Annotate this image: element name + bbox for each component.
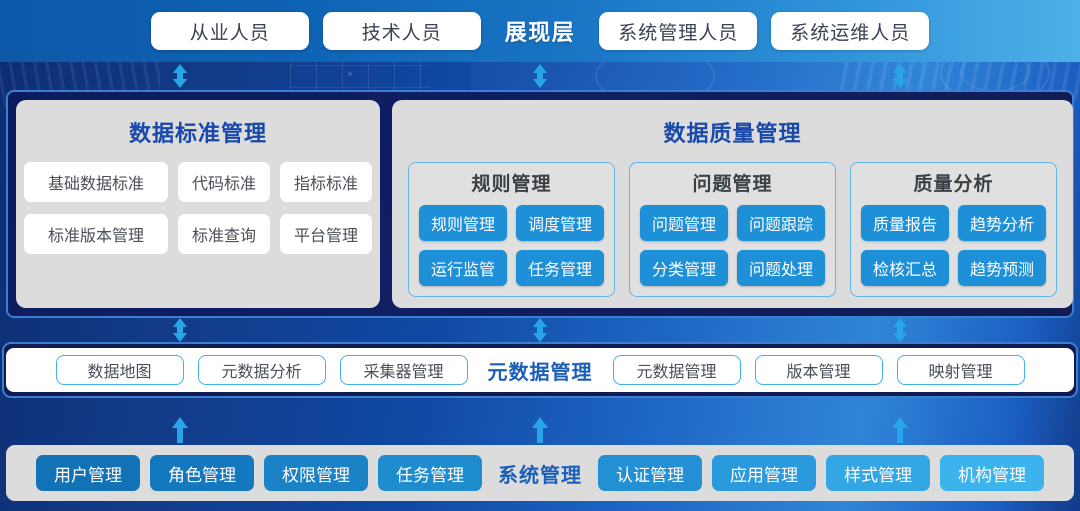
meta-item-data-map[interactable]: 数据地图 xyxy=(56,355,184,385)
sys-item-task-management[interactable]: 任务管理 xyxy=(378,455,482,491)
rule-item-task-management[interactable]: 任务管理 xyxy=(516,250,604,286)
rule-item-schedule-management[interactable]: 调度管理 xyxy=(516,205,604,241)
system-management-row: 用户管理 角色管理 权限管理 任务管理 系统管理 认证管理 应用管理 样式管理 … xyxy=(6,445,1074,501)
quality-subgroup-wrapper: 规则管理 规则管理 调度管理 运行监管 任务管理 问题管理 问题管理 问题跟踪 … xyxy=(404,162,1061,299)
double-arrow-icon xyxy=(173,318,187,342)
quality-analysis-items: 质量报告 趋势分析 检核汇总 趋势预测 xyxy=(861,205,1046,286)
issue-item-category-management[interactable]: 分类管理 xyxy=(640,250,728,286)
meta-item-metadata-management[interactable]: 元数据管理 xyxy=(613,355,741,385)
analysis-item-quality-report[interactable]: 质量报告 xyxy=(861,205,949,241)
std-item-code-standard[interactable]: 代码标准 xyxy=(178,162,270,202)
sys-item-permission-management[interactable]: 权限管理 xyxy=(264,455,368,491)
data-standard-management-title: 数据标准管理 xyxy=(28,116,368,148)
meta-item-version-management[interactable]: 版本管理 xyxy=(755,355,883,385)
sys-item-user-management[interactable]: 用户管理 xyxy=(36,455,140,491)
issue-management-title: 问题管理 xyxy=(692,169,772,196)
system-management-title: 系统管理 xyxy=(492,459,588,488)
data-standard-row-1: 基础数据标准 代码标准 指标标准 xyxy=(36,162,360,202)
std-item-indicator-standard[interactable]: 指标标准 xyxy=(280,162,372,202)
std-item-version-management[interactable]: 标准版本管理 xyxy=(24,214,168,254)
sys-item-auth-management[interactable]: 认证管理 xyxy=(598,455,702,491)
double-arrow-icon xyxy=(893,64,907,88)
role-chip-technician[interactable]: 技术人员 xyxy=(323,12,481,50)
data-quality-management-title: 数据质量管理 xyxy=(404,116,1061,148)
std-item-basic-data-standard[interactable]: 基础数据标准 xyxy=(24,162,168,202)
metadata-management-row: 数据地图 元数据分析 采集器管理 元数据管理 元数据管理 版本管理 映射管理 xyxy=(6,348,1074,392)
analysis-item-trend-analysis[interactable]: 趋势分析 xyxy=(958,205,1046,241)
presentation-layer-title: 展现层 xyxy=(495,15,586,47)
quality-analysis-title: 质量分析 xyxy=(913,169,993,196)
double-arrow-icon xyxy=(533,318,547,342)
sys-item-role-management[interactable]: 角色管理 xyxy=(150,455,254,491)
std-item-platform-management[interactable]: 平台管理 xyxy=(280,214,372,254)
analysis-item-audit-summary[interactable]: 检核汇总 xyxy=(861,250,949,286)
sys-item-org-management[interactable]: 机构管理 xyxy=(940,455,1044,491)
issue-management-items: 问题管理 问题跟踪 分类管理 问题处理 xyxy=(640,205,825,286)
architecture-diagram: 从业人员 技术人员 展现层 系统管理人员 系统运维人员 数据标准管理 基础数据标… xyxy=(0,0,1080,511)
issue-item-issue-management[interactable]: 问题管理 xyxy=(640,205,728,241)
data-standard-management-card: 数据标准管理 基础数据标准 代码标准 指标标准 标准版本管理 标准查询 平台管理 xyxy=(16,100,380,308)
metadata-management-title: 元数据管理 xyxy=(482,356,599,385)
connector-row-system-to-metadata xyxy=(0,416,1080,444)
issue-item-issue-tracking[interactable]: 问题跟踪 xyxy=(737,205,825,241)
data-standard-row-2: 标准版本管理 标准查询 平台管理 xyxy=(36,214,360,254)
role-chip-system-ops[interactable]: 系统运维人员 xyxy=(771,12,929,50)
data-quality-management-card: 数据质量管理 规则管理 规则管理 调度管理 运行监管 任务管理 问题管理 问题管… xyxy=(392,100,1073,308)
analysis-item-trend-forecast[interactable]: 趋势预测 xyxy=(958,250,1046,286)
core-layer-panel: 数据标准管理 基础数据标准 代码标准 指标标准 标准版本管理 标准查询 平台管理… xyxy=(6,90,1074,318)
role-chip-system-admin[interactable]: 系统管理人员 xyxy=(599,12,757,50)
issue-item-issue-handling[interactable]: 问题处理 xyxy=(737,250,825,286)
rule-management-group: 规则管理 规则管理 调度管理 运行监管 任务管理 xyxy=(408,162,615,297)
up-arrow-icon xyxy=(532,417,548,443)
role-chip-practitioner[interactable]: 从业人员 xyxy=(151,12,309,50)
up-arrow-icon xyxy=(172,417,188,443)
issue-management-group: 问题管理 问题管理 问题跟踪 分类管理 问题处理 xyxy=(629,162,836,297)
connector-row-core-to-metadata xyxy=(0,316,1080,344)
rule-management-items: 规则管理 调度管理 运行监管 任务管理 xyxy=(419,205,604,286)
meta-item-mapping-management[interactable]: 映射管理 xyxy=(897,355,1025,385)
rule-item-rule-management[interactable]: 规则管理 xyxy=(419,205,507,241)
double-arrow-icon xyxy=(173,64,187,88)
double-arrow-icon xyxy=(893,318,907,342)
sys-item-style-management[interactable]: 样式管理 xyxy=(826,455,930,491)
sys-item-application-management[interactable]: 应用管理 xyxy=(712,455,816,491)
meta-item-collector-management[interactable]: 采集器管理 xyxy=(340,355,468,385)
presentation-layer-bar: 从业人员 技术人员 展现层 系统管理人员 系统运维人员 xyxy=(0,0,1080,62)
data-standard-item-grid: 基础数据标准 代码标准 指标标准 标准版本管理 标准查询 平台管理 xyxy=(28,162,368,254)
up-arrow-icon xyxy=(892,417,908,443)
meta-item-metadata-analysis[interactable]: 元数据分析 xyxy=(198,355,326,385)
double-arrow-icon xyxy=(533,64,547,88)
std-item-standard-query[interactable]: 标准查询 xyxy=(178,214,270,254)
rule-item-run-monitoring[interactable]: 运行监管 xyxy=(419,250,507,286)
quality-analysis-group: 质量分析 质量报告 趋势分析 检核汇总 趋势预测 xyxy=(850,162,1057,297)
rule-management-title: 规则管理 xyxy=(471,169,551,196)
connector-row-presentation-to-core xyxy=(0,62,1080,90)
